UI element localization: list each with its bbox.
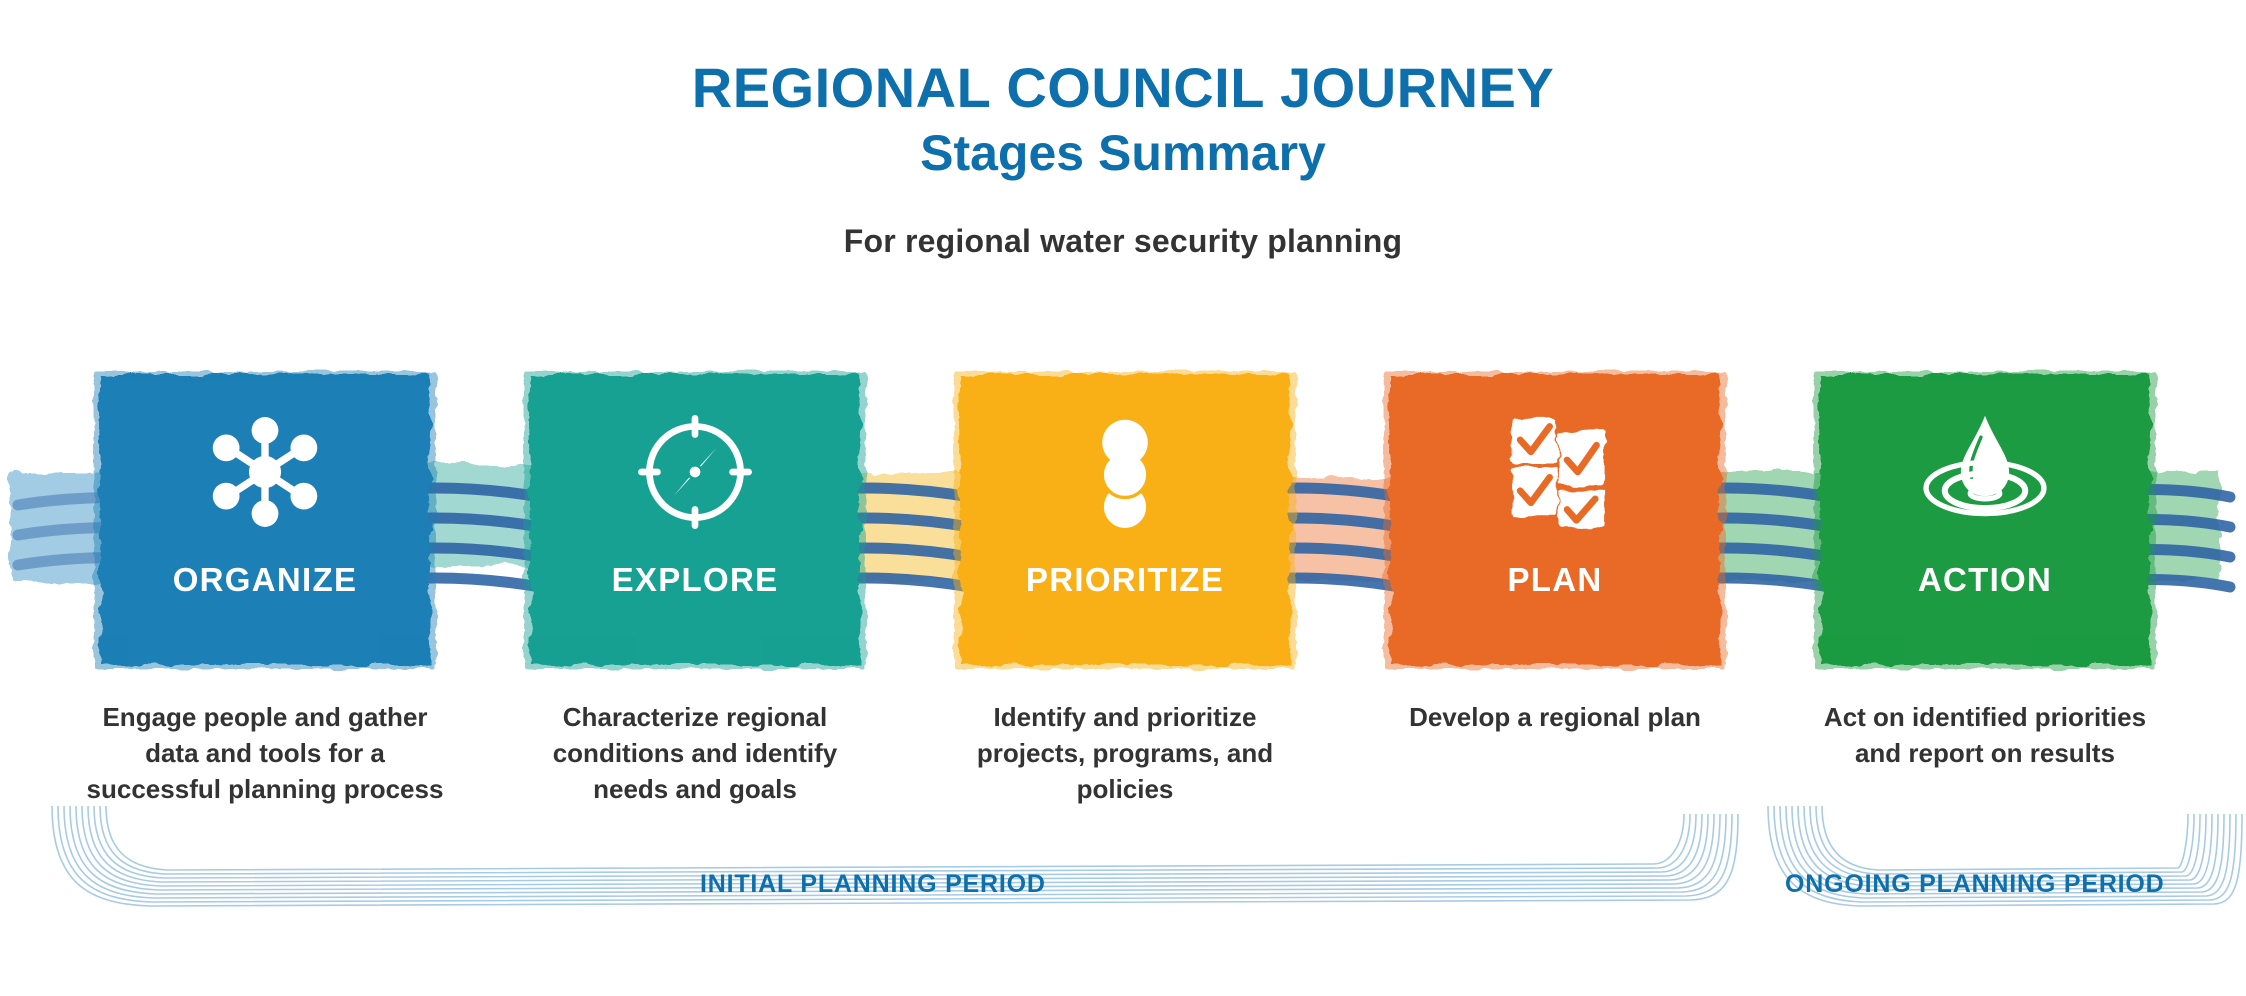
stage-label-explore: EXPLORE bbox=[612, 561, 779, 599]
header: REGIONAL COUNCIL JOURNEY Stages Summary … bbox=[0, 0, 2246, 260]
bracket-label-initial: INITIAL PLANNING PERIOD bbox=[700, 870, 1046, 899]
checkboxes-icon bbox=[1488, 405, 1622, 539]
caption-organize: Engage people and gather data and tools … bbox=[85, 700, 445, 808]
stage-card-plan[interactable]: PLAN bbox=[1382, 369, 1728, 671]
stage-card-prioritize[interactable]: PRIORITIZE bbox=[952, 369, 1298, 671]
stage-card-organize[interactable]: ORGANIZE bbox=[92, 369, 438, 671]
page-description: For regional water security planning bbox=[0, 223, 2246, 260]
stage-label-action: ACTION bbox=[1918, 561, 2052, 599]
caption-plan: Develop a regional plan bbox=[1375, 700, 1735, 736]
network-nodes-icon bbox=[198, 405, 332, 539]
planning-period-brackets: INITIAL PLANNING PERIOD ONGOING PLANNING… bbox=[0, 800, 2246, 950]
stage-label-organize: ORGANIZE bbox=[173, 561, 358, 599]
stacked-circles-icon bbox=[1058, 405, 1192, 539]
compass-icon bbox=[628, 405, 762, 539]
caption-action: Act on identified priorities and report … bbox=[1805, 700, 2165, 772]
stage-card-action[interactable]: ACTION bbox=[1812, 369, 2158, 671]
stage-cards-row: ORGANIZE bbox=[0, 355, 2246, 685]
stage-band: ORGANIZE bbox=[0, 355, 2246, 685]
infographic-page: REGIONAL COUNCIL JOURNEY Stages Summary … bbox=[0, 0, 2246, 996]
caption-explore: Characterize regional conditions and ide… bbox=[515, 700, 875, 808]
bracket-label-ongoing: ONGOING PLANNING PERIOD bbox=[1785, 870, 2165, 899]
stage-card-explore[interactable]: EXPLORE bbox=[522, 369, 868, 671]
page-subtitle: Stages Summary bbox=[0, 123, 2246, 183]
stage-label-plan: PLAN bbox=[1507, 561, 1602, 599]
caption-prioritize: Identify and prioritize projects, progra… bbox=[945, 700, 1305, 808]
water-droplet-ripple-icon bbox=[1918, 405, 2052, 539]
stage-label-prioritize: PRIORITIZE bbox=[1026, 561, 1224, 599]
page-title: REGIONAL COUNCIL JOURNEY bbox=[0, 58, 2246, 117]
